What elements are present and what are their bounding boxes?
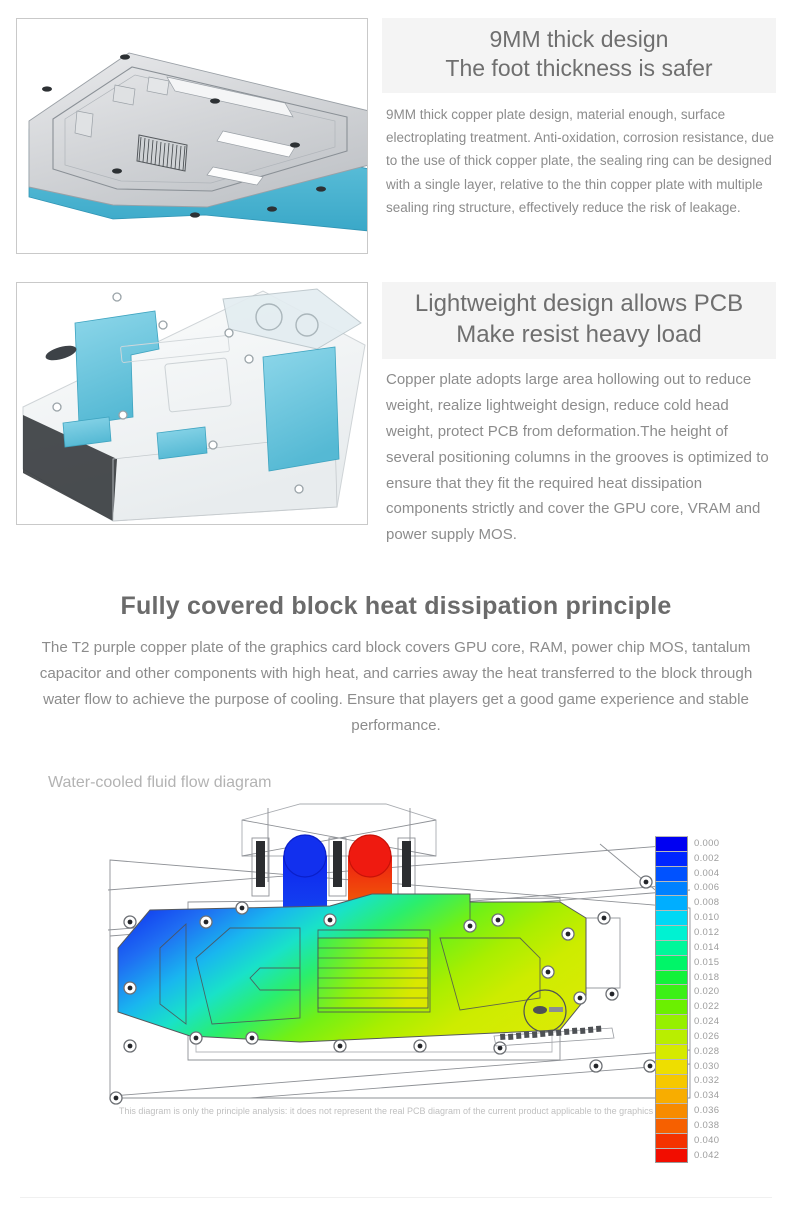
legend-row: 0.008 [655, 895, 729, 910]
legend-row: 0.014 [655, 940, 729, 955]
legend-label: 0.040 [688, 1135, 719, 1146]
legend-swatch [655, 895, 688, 910]
principle-heading: Fully covered block heat dissipation pri… [18, 592, 774, 621]
legend-row: 0.030 [655, 1059, 729, 1074]
legend-label: 0.020 [688, 986, 719, 997]
legend-label: 0.002 [688, 853, 719, 864]
legend-swatch [655, 1059, 688, 1074]
principle-section: Fully covered block heat dissipation pri… [0, 592, 792, 740]
legend-row: 0.000 [655, 836, 729, 851]
legend-swatch [655, 1088, 688, 1103]
legend-label: 0.036 [688, 1105, 719, 1116]
legend-label: 0.012 [688, 927, 719, 938]
legend-label: 0.038 [688, 1120, 719, 1131]
legend-label: 0.015 [688, 957, 719, 968]
legend-row: 0.012 [655, 925, 729, 940]
legend-row: 0.022 [655, 999, 729, 1014]
legend-swatch [655, 881, 688, 896]
legend-label: 0.018 [688, 972, 719, 983]
feature-2-title: Lightweight design allows PCBMake resist… [382, 282, 776, 359]
microfin-array [318, 938, 428, 1008]
legend-swatch [655, 1133, 688, 1148]
bottom-divider [20, 1197, 772, 1198]
legend-swatch [655, 910, 688, 925]
legend-row: 0.004 [655, 866, 729, 881]
legend-swatch [655, 970, 688, 985]
legend-row: 0.032 [655, 1074, 729, 1089]
legend-swatch [655, 866, 688, 881]
legend-row: 0.020 [655, 984, 729, 999]
legend-swatch [655, 940, 688, 955]
legend-swatch [655, 1044, 688, 1059]
legend-swatch [655, 984, 688, 999]
legend-label: 0.034 [688, 1090, 719, 1101]
copper-plate-cad-render-icon [17, 19, 368, 254]
legend-label: 0.026 [688, 1031, 719, 1042]
feature-1-title: 9MM thick designThe foot thickness is sa… [382, 18, 776, 93]
legend-row: 0.024 [655, 1014, 729, 1029]
legend-label: 0.022 [688, 1001, 719, 1012]
legend-label: 0.006 [688, 882, 719, 893]
legend-row: 0.038 [655, 1118, 729, 1133]
legend-label: 0.004 [688, 868, 719, 879]
feature-1-copy: 9MM thick designThe foot thickness is sa… [368, 18, 776, 219]
legend-label: 0.008 [688, 897, 719, 908]
legend-row: 0.018 [655, 970, 729, 985]
legend-swatch [655, 1074, 688, 1089]
legend-row: 0.036 [655, 1103, 729, 1118]
legend-row: 0.040 [655, 1133, 729, 1148]
legend-swatch [655, 1118, 688, 1133]
gpu-block-backplate-photo-icon [17, 283, 368, 525]
product-photo-copper-plate[interactable] [16, 18, 368, 254]
legend-swatch [655, 999, 688, 1014]
legend-row: 0.010 [655, 910, 729, 925]
feature-2-body: Copper plate adopts large area hollowing… [382, 359, 776, 548]
legend-label: 0.032 [688, 1075, 719, 1086]
legend-swatch [655, 836, 688, 851]
product-photo-backplate[interactable] [16, 282, 368, 525]
legend-swatch [655, 1148, 688, 1163]
legend-row: 0.042 [655, 1148, 729, 1163]
feature-1-body: 9MM thick copper plate design, material … [382, 93, 776, 219]
legend-swatch [655, 955, 688, 970]
legend-row: 0.002 [655, 851, 729, 866]
diagram-caption: Water-cooled fluid flow diagram [48, 774, 272, 792]
legend-row: 0.006 [655, 881, 729, 896]
legend-row: 0.034 [655, 1088, 729, 1103]
legend-label: 0.030 [688, 1061, 719, 1072]
legend-label: 0.014 [688, 942, 719, 953]
legend-swatch [655, 1014, 688, 1029]
legend-label: 0.028 [688, 1046, 719, 1057]
color-scale-legend: 0.0000.0020.0040.0060.0080.0100.0120.014… [655, 836, 729, 1163]
principle-body: The T2 purple copper plate of the graphi… [18, 635, 774, 740]
legend-swatch [655, 1029, 688, 1044]
legend-label: 0.042 [688, 1150, 719, 1161]
legend-swatch [655, 851, 688, 866]
legend-swatch [655, 925, 688, 940]
feature-block-lightweight: Lightweight design allows PCBMake resist… [0, 282, 792, 548]
legend-label: 0.010 [688, 912, 719, 923]
feature-block-thickness: 9MM thick designThe foot thickness is sa… [0, 18, 792, 254]
legend-row: 0.015 [655, 955, 729, 970]
legend-swatch [655, 1103, 688, 1118]
legend-row: 0.028 [655, 1044, 729, 1059]
legend-label: 0.000 [688, 838, 719, 849]
legend-row: 0.026 [655, 1029, 729, 1044]
legend-label: 0.024 [688, 1016, 719, 1027]
feature-2-copy: Lightweight design allows PCBMake resist… [368, 282, 776, 548]
